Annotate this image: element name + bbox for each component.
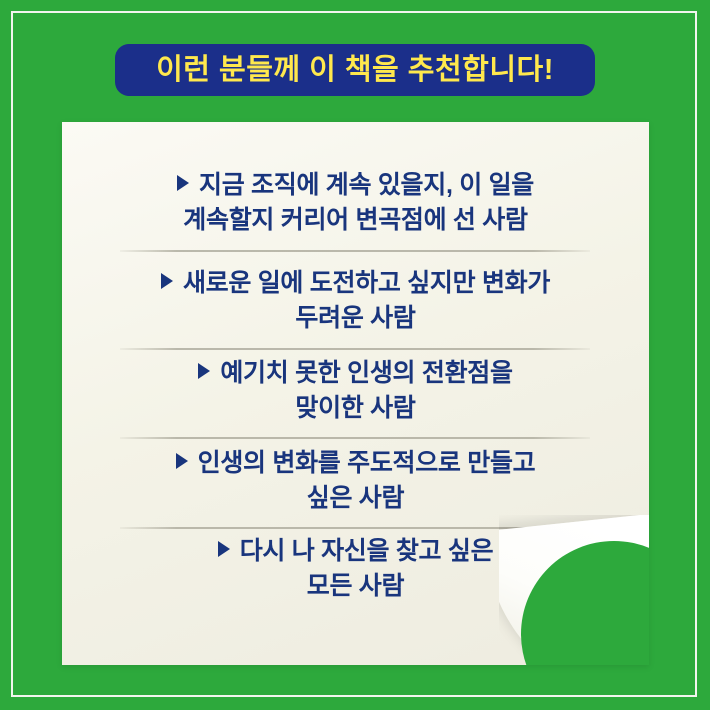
recommendation-list: 지금 조직에 계속 있을지, 이 일을 계속할지 커리어 변곡점에 선 사람 새…	[62, 122, 649, 665]
list-item: 새로운 일에 도전하고 싶지만 변화가 두려운 사람	[92, 266, 619, 335]
list-item-line: 지금 조직에 계속 있을지, 이 일을	[92, 168, 619, 203]
list-item: 지금 조직에 계속 있을지, 이 일을 계속할지 커리어 변곡점에 선 사람	[92, 168, 619, 237]
paper-panel: 지금 조직에 계속 있을지, 이 일을 계속할지 커리어 변곡점에 선 사람 새…	[62, 122, 649, 665]
triangle-right-icon	[177, 175, 189, 191]
list-divider	[120, 527, 590, 529]
triangle-right-icon	[198, 363, 210, 379]
list-item-line: 다시 나 자신을 찾고 싶은	[92, 534, 619, 569]
list-item-line: 두려운 사람	[92, 301, 619, 336]
list-item-text: 예기치 못한 인생의 전환점을	[220, 359, 512, 387]
list-item: 인생의 변화를 주도적으로 만들고 싶은 사람	[92, 446, 619, 515]
list-item-line: 새로운 일에 도전하고 싶지만 변화가	[92, 266, 619, 301]
list-item-line: 모든 사람	[92, 569, 619, 604]
list-divider	[120, 348, 590, 350]
list-item-line: 예기치 못한 인생의 전환점을	[92, 356, 619, 391]
title-badge-text: 이런 분들께 이 책을 추천합니다!	[156, 56, 554, 85]
list-item-text: 다시 나 자신을 찾고 싶은	[240, 537, 494, 565]
list-item: 다시 나 자신을 찾고 싶은 모든 사람	[92, 534, 619, 603]
list-item-text: 새로운 일에 도전하고 싶지만 변화가	[183, 269, 550, 297]
triangle-right-icon	[176, 453, 188, 469]
list-item-line: 계속할지 커리어 변곡점에 선 사람	[92, 203, 619, 238]
triangle-right-icon	[218, 541, 230, 557]
promo-card: 이런 분들께 이 책을 추천합니다! 지금 조직에 계속 있을지, 이 일을 계…	[0, 0, 710, 710]
triangle-right-icon	[161, 273, 173, 289]
title-badge: 이런 분들께 이 책을 추천합니다!	[115, 44, 595, 96]
list-divider	[120, 250, 590, 252]
list-item: 예기치 못한 인생의 전환점을 맞이한 사람	[92, 356, 619, 425]
list-item-line: 인생의 변화를 주도적으로 만들고	[92, 446, 619, 481]
list-item-text: 인생의 변화를 주도적으로 만들고	[198, 449, 536, 477]
list-divider	[120, 437, 590, 439]
list-item-text: 지금 조직에 계속 있을지, 이 일을	[199, 171, 534, 199]
list-item-line: 싶은 사람	[92, 481, 619, 516]
list-item-line: 맞이한 사람	[92, 391, 619, 426]
